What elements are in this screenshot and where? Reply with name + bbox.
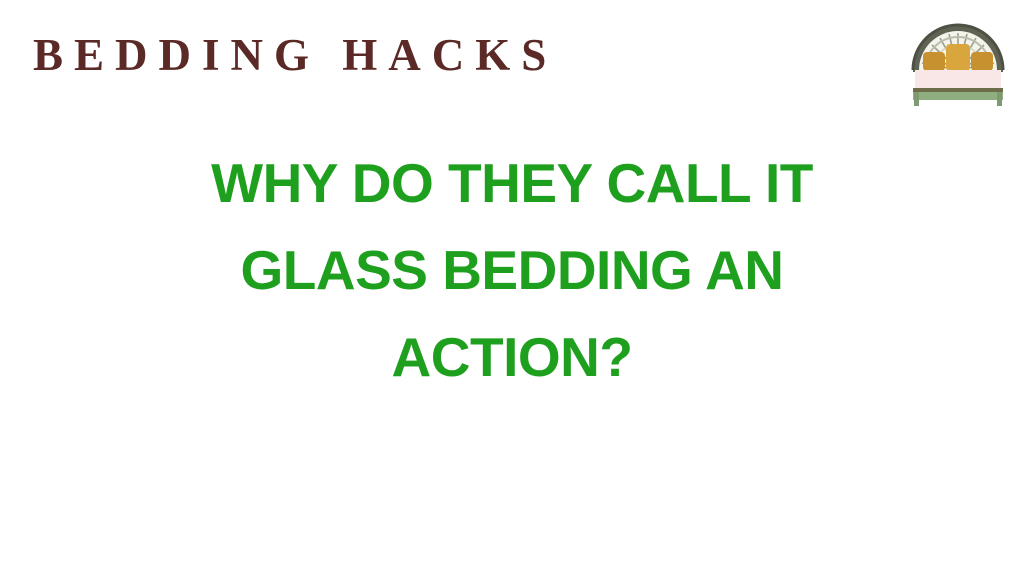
headline-line-2: GLASS BEDDING AN (0, 227, 1024, 314)
slide-canvas: BEDDING HACKS (0, 0, 1024, 576)
bed-icon (905, 8, 1011, 108)
page-title: BEDDING HACKS (33, 32, 557, 79)
headline-line-3: ACTION? (0, 314, 1024, 401)
headline-line-1: WHY DO THEY CALL IT (0, 140, 1024, 227)
headline: WHY DO THEY CALL IT GLASS BEDDING AN ACT… (0, 140, 1024, 401)
